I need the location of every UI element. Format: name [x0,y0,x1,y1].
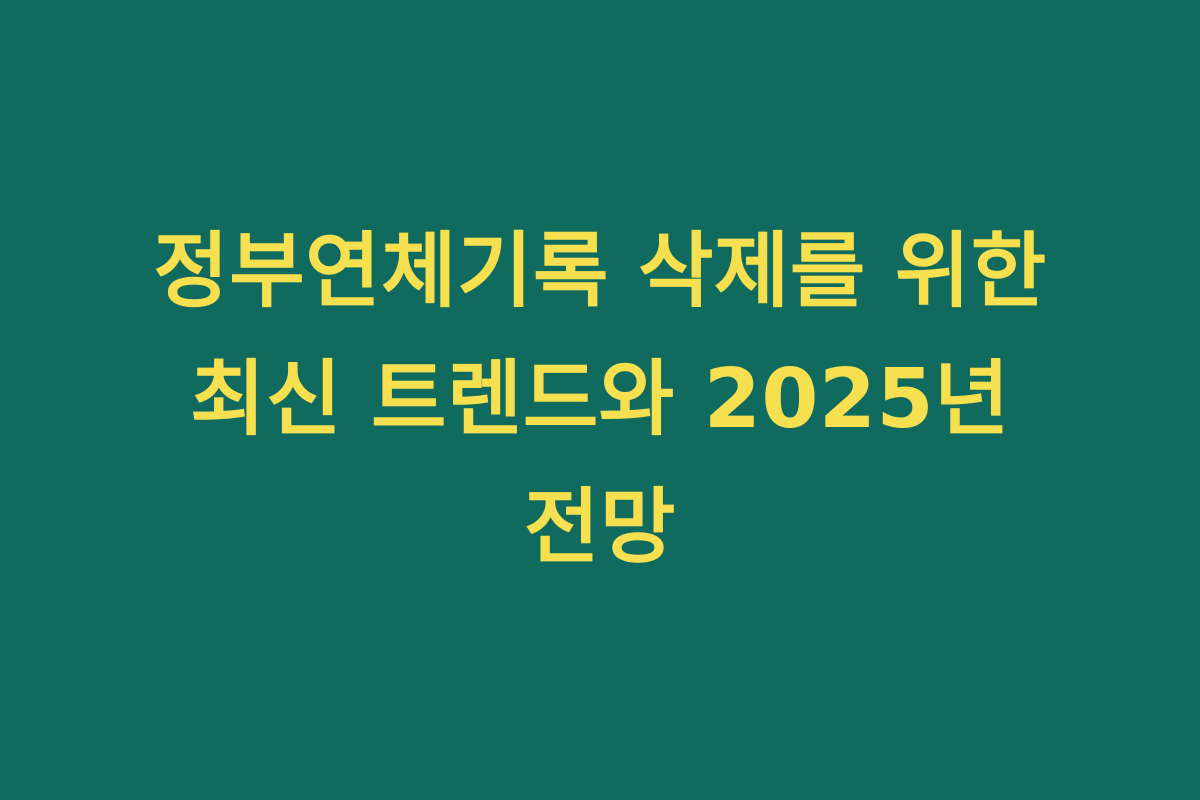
title-block: 정부연체기록 삭제를 위한 최신 트렌드와 2025년 전망 [95,208,1105,592]
title-card: 정부연체기록 삭제를 위한 최신 트렌드와 2025년 전망 [0,0,1200,800]
page-title: 정부연체기록 삭제를 위한 최신 트렌드와 2025년 전망 [105,208,1095,592]
